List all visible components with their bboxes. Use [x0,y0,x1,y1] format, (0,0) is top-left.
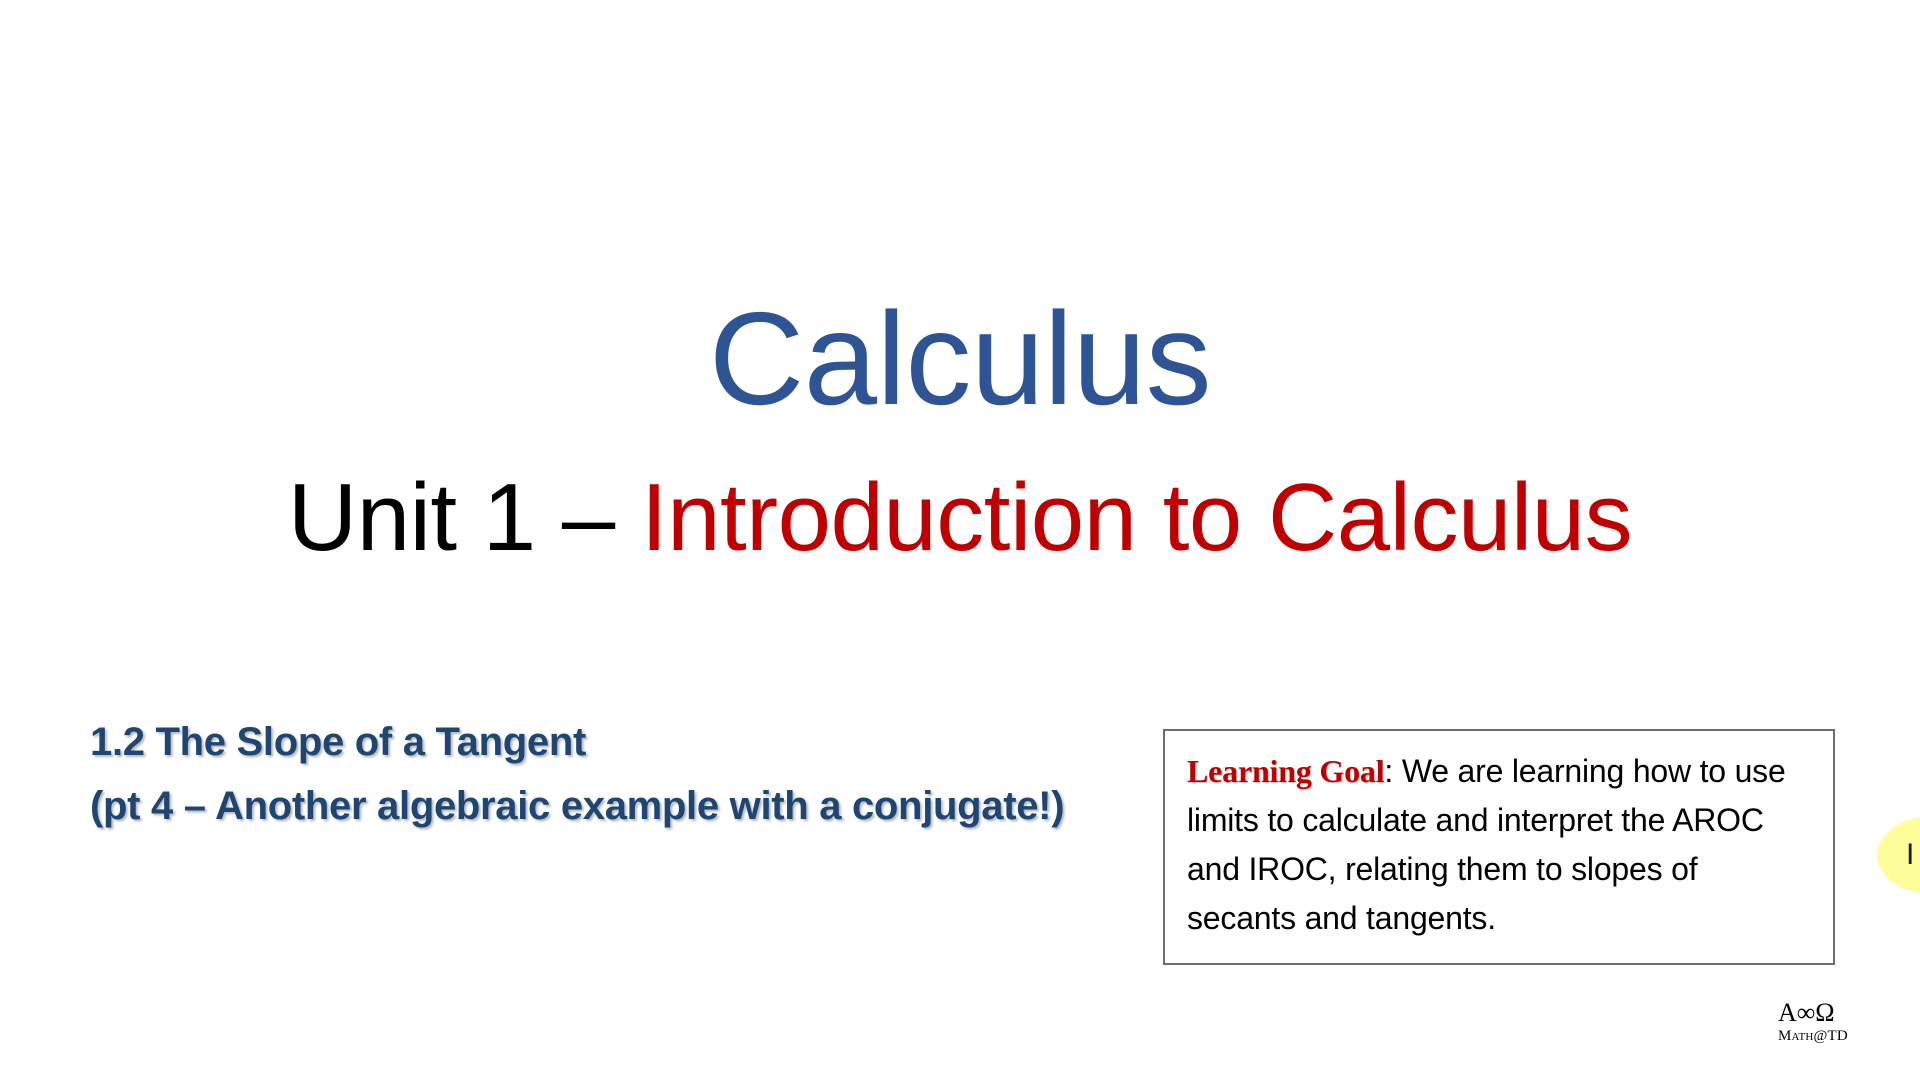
page-title: Calculus [0,290,1920,429]
brand-logo: A∞Ω Math@TD [1778,1000,1898,1045]
unit-subtitle-prefix: Unit 1 – [288,464,641,571]
learning-goal-box: Learning Goal: We are learning how to us… [1163,729,1835,965]
section-heading-line-2: (pt 4 – Another algebraic example with a… [90,784,1100,828]
brand-logo-subtitle: Math@TD [1778,1027,1898,1045]
learning-goal-separator: : [1384,753,1401,789]
presentation-slide: Calculus Unit 1 – Introduction to Calcul… [0,0,1920,1080]
learning-goal-text: Learning Goal: We are learning how to us… [1187,747,1811,943]
brand-logo-glyphs: A∞Ω [1778,1000,1898,1026]
section-heading-line-1: 1.2 The Slope of a Tangent [90,718,1100,766]
sticky-note-callout-text: I [1906,836,1920,874]
unit-subtitle: Unit 1 – Introduction to Calculus [0,465,1920,571]
unit-subtitle-accent: Introduction to Calculus [641,464,1632,571]
learning-goal-label: Learning Goal [1187,753,1384,789]
section-heading: 1.2 The Slope of a Tangent (pt 4 – Anoth… [90,718,1100,828]
